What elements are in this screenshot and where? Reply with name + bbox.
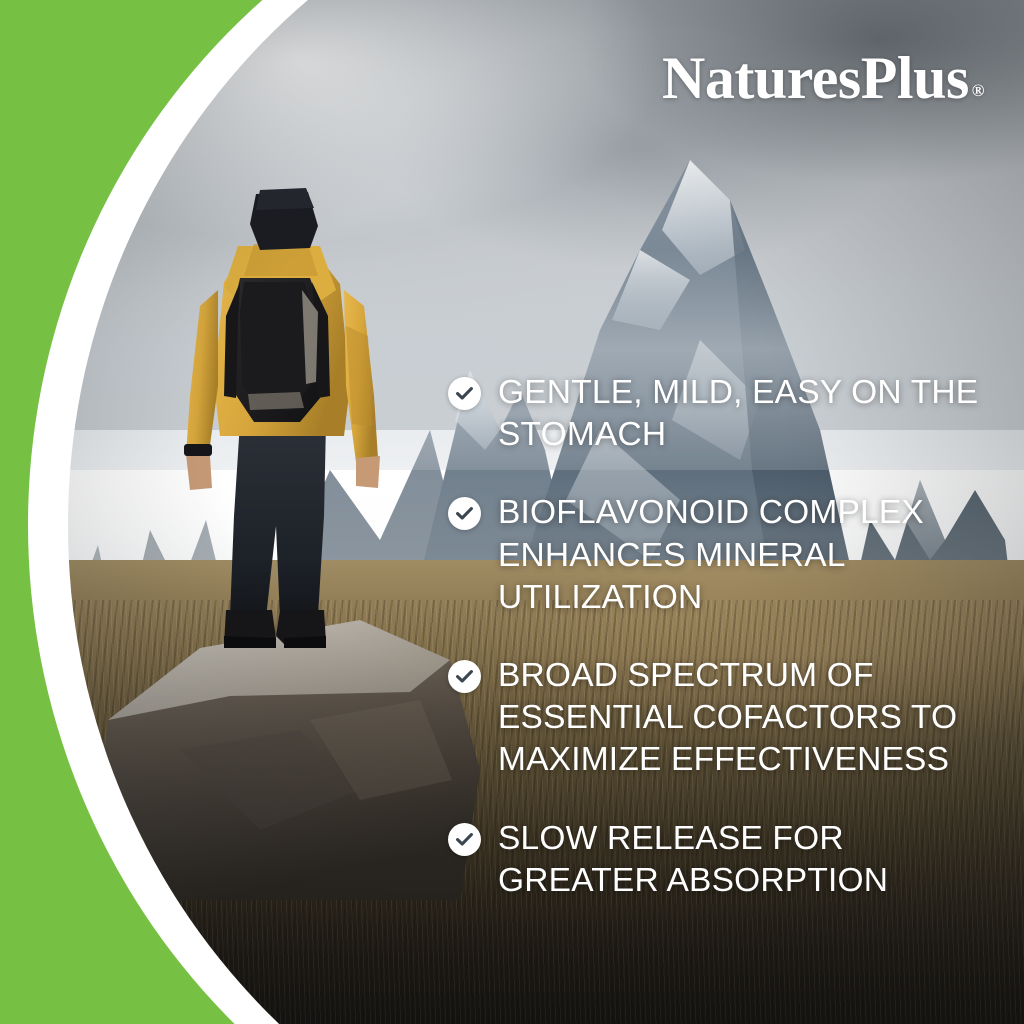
brand-logo-text: NaturesPlus	[662, 48, 969, 108]
benefits-list: GENTLE, MILD, EASY ON THE STOMACH BIOFLA…	[448, 372, 988, 902]
benefit-text: BIOFLAVONOID COMPLEX ENHANCES MINERAL UT…	[498, 492, 988, 619]
product-benefits-graphic: NaturesPlus ® GENTLE, MILD, EASY ON THE …	[0, 0, 1024, 1024]
benefit-item: BROAD SPECTRUM OF ESSENTIAL COFACTORS TO…	[448, 655, 988, 782]
check-circle-icon	[448, 660, 481, 693]
benefit-item: SLOW RELEASE FOR GREATER ABSORPTION	[448, 818, 988, 902]
benefit-text: SLOW RELEASE FOR GREATER ABSORPTION	[498, 818, 988, 902]
benefit-item: GENTLE, MILD, EASY ON THE STOMACH	[448, 372, 988, 456]
registered-trademark-icon: ®	[972, 82, 984, 99]
benefit-text: BROAD SPECTRUM OF ESSENTIAL COFACTORS TO…	[498, 655, 988, 782]
check-circle-icon	[448, 823, 481, 856]
check-circle-icon	[448, 377, 481, 410]
benefit-text: GENTLE, MILD, EASY ON THE STOMACH	[498, 372, 988, 456]
brand-logo: NaturesPlus ®	[662, 48, 984, 108]
check-circle-icon	[448, 497, 481, 530]
benefit-item: BIOFLAVONOID COMPLEX ENHANCES MINERAL UT…	[448, 492, 988, 619]
